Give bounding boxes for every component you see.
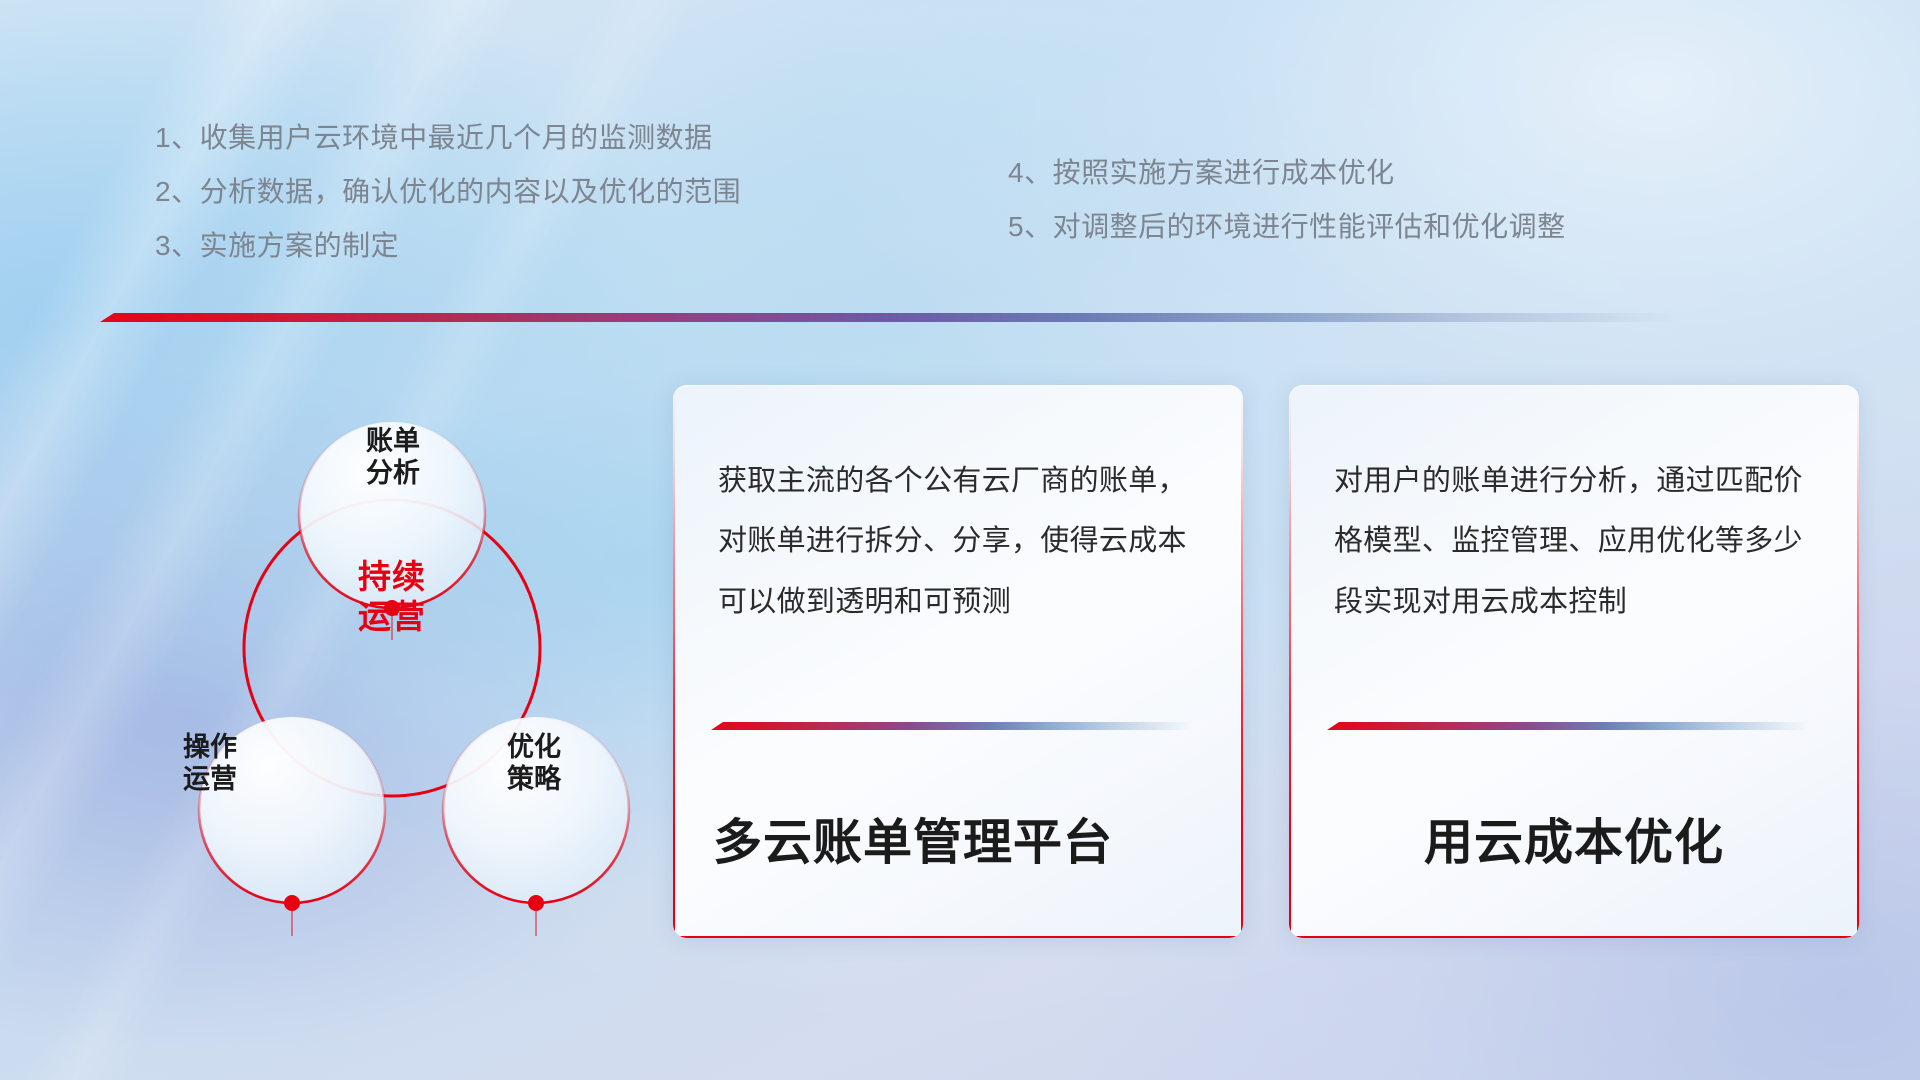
card-edge-left (673, 385, 675, 938)
step-item-5: 5、对调整后的环境进行性能评估和优化调整 (1008, 213, 1566, 241)
step-item-4: 4、按照实施方案进行成本优化 (1008, 159, 1566, 187)
venn-label-top: 账单 分析 (303, 426, 483, 490)
card-accent-rule (1327, 722, 1809, 730)
card-edge-bottom (1289, 936, 1859, 938)
card-body-text: 对用户的账单进行分析，通过匹配价格模型、监控管理、应用优化等多少段实现对用云成本… (1334, 451, 1817, 632)
venn-label-right: 优化 策略 (444, 732, 624, 796)
card-title: 多云账单管理平台 (713, 803, 1213, 874)
card-edge-left (1289, 385, 1291, 938)
venn-diagram: 账单 分析 操作 运营 优化 策略 持续 运营 (96, 352, 656, 952)
venn-dot-right (528, 895, 544, 911)
card-title: 用云成本优化 (1309, 803, 1839, 874)
header-divider-bar (100, 313, 1680, 322)
venn-dot-left (284, 895, 300, 911)
card-edge-bottom (673, 936, 1243, 938)
venn-center-label: 持续 运营 (292, 557, 492, 636)
step-item-3: 3、实施方案的制定 (155, 232, 741, 260)
feature-card-cloud-cost-optimization[interactable]: 对用户的账单进行分析，通过匹配价格模型、监控管理、应用优化等多少段实现对用云成本… (1289, 385, 1859, 938)
steps-list-right: 4、按照实施方案进行成本优化 5、对调整后的环境进行性能评估和优化调整 (1008, 159, 1566, 241)
card-accent-rule (711, 722, 1193, 730)
card-edge-right (1857, 385, 1859, 938)
card-edge-right (1241, 385, 1243, 938)
step-item-2: 2、分析数据，确认优化的内容以及优化的范围 (155, 178, 741, 206)
header-divider (100, 313, 1680, 322)
venn-label-left: 操作 运营 (120, 732, 300, 796)
steps-list-left: 1、收集用户云环境中最近几个月的监测数据 2、分析数据，确认优化的内容以及优化的… (155, 124, 741, 260)
card-body-text: 获取主流的各个公有云厂商的账单，对账单进行拆分、分享，使得云成本可以做到透明和可… (718, 451, 1201, 632)
step-item-1: 1、收集用户云环境中最近几个月的监测数据 (155, 124, 741, 152)
slide-canvas: 1、收集用户云环境中最近几个月的监测数据 2、分析数据，确认优化的内容以及优化的… (0, 0, 1920, 1080)
feature-card-multicloud-billing[interactable]: 获取主流的各个公有云厂商的账单，对账单进行拆分、分享，使得云成本可以做到透明和可… (673, 385, 1243, 938)
